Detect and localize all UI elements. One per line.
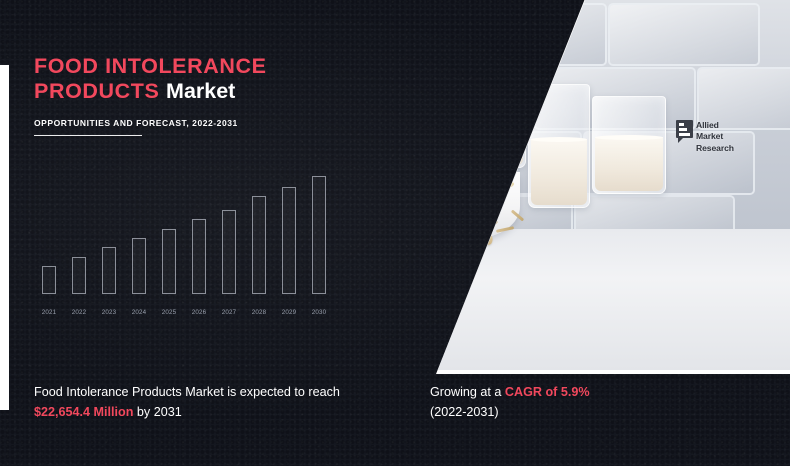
marble-counter: [300, 229, 790, 370]
market-value-amount: $22,654.4 Million: [34, 405, 133, 419]
chart-bar-column: [214, 168, 244, 294]
chart-bar-column: [154, 168, 184, 294]
milk-glass-far-right: [592, 96, 666, 194]
milk-glass-tall-center: [476, 46, 526, 168]
title-line-1: FOOD INTOLERANCE: [34, 54, 304, 79]
chart-bar: [192, 219, 206, 294]
report-headline: FOOD INTOLERANCE PRODUCTS Market OPPORTU…: [34, 54, 304, 136]
chart-x-label: 2029: [274, 309, 304, 316]
market-growth-bar-chart: 2021202220232024202520262027202820292030: [34, 168, 334, 316]
chart-x-label: 2024: [124, 309, 154, 316]
report-subtitle: OPPORTUNITIES AND FORECAST, 2022-2031: [34, 118, 304, 128]
logo-line-2: Market: [696, 131, 734, 142]
almond: [357, 244, 385, 262]
milk-glass-back-left: [366, 74, 432, 178]
chart-bar: [282, 187, 296, 294]
chart-x-label: 2026: [184, 309, 214, 316]
title-line-2: PRODUCTS Market: [34, 79, 304, 104]
chart-bar: [102, 247, 116, 294]
bubble-bar-1: [679, 123, 684, 126]
hero-photo-panel: [296, 0, 790, 374]
statement-suffix: by 2031: [133, 405, 181, 419]
green-straw: [505, 23, 538, 117]
logo-wordmark: Allied Market Research: [696, 120, 734, 154]
title-line-2-products: PRODUCTS: [34, 79, 159, 103]
cagr-statement: Growing at a CAGR of 5.9% (2022-2031): [430, 382, 730, 423]
chart-x-axis-labels: 2021202220232024202520262027202820292030: [34, 309, 334, 316]
chart-bar-column: [34, 168, 64, 294]
milk-glass-right-tall: [528, 84, 590, 208]
logo-line-1: Allied: [696, 120, 734, 131]
speech-bubble-icon: [676, 120, 693, 143]
chart-x-label: 2022: [64, 309, 94, 316]
chart-bar-column: [304, 168, 334, 294]
chart-x-label: 2025: [154, 309, 184, 316]
hero-photo: [300, 0, 790, 370]
allied-market-research-logo: Allied Market Research: [676, 120, 734, 154]
cereal-contents: [434, 176, 513, 192]
chart-bar-column: [64, 168, 94, 294]
chart-x-label: 2028: [244, 309, 274, 316]
chart-x-label: 2023: [94, 309, 124, 316]
chart-bar: [132, 238, 146, 294]
market-value-statement: Food Intolerance Products Market is expe…: [34, 382, 374, 423]
oat-grain: [482, 215, 498, 224]
photo-scene: [300, 0, 790, 370]
chart-bar-column: [124, 168, 154, 294]
chart-bar: [222, 210, 236, 294]
chart-bar-column: [184, 168, 214, 294]
cagr-period: (2022-2031): [430, 405, 499, 419]
chart-x-label: 2027: [214, 309, 244, 316]
chart-bar-column: [94, 168, 124, 294]
chart-bar: [312, 176, 326, 294]
chart-bar: [72, 257, 86, 294]
oat-grain: [420, 201, 429, 215]
chart-bars: [34, 168, 334, 294]
subtitle-underline: [34, 135, 142, 137]
logo-line-3: Research: [696, 143, 734, 154]
chart-bar: [162, 229, 176, 294]
statement-prefix: Food Intolerance Products Market is expe…: [34, 385, 340, 399]
bubble-bar-2: [679, 128, 687, 131]
bubble-bar-3: [679, 133, 690, 136]
chart-bar: [42, 266, 56, 294]
title-line-2-market: Market: [166, 79, 235, 103]
cagr-prefix: Growing at a: [430, 385, 505, 399]
almond: [419, 225, 442, 241]
chart-bar-column: [274, 168, 304, 294]
bubble-tail: [678, 137, 684, 143]
infographic-canvas: Allied Market Research FOOD INTOLERANCE …: [0, 0, 790, 466]
almond: [334, 235, 361, 256]
chart-bar-column: [244, 168, 274, 294]
left-accent-strip: [0, 65, 9, 410]
chart-x-label: 2030: [304, 309, 334, 316]
chart-bar: [252, 196, 266, 294]
chart-x-label: 2021: [34, 309, 64, 316]
cagr-value: CAGR of 5.9%: [505, 385, 590, 399]
almond: [384, 240, 412, 262]
title-line-1-text: FOOD INTOLERANCE: [34, 54, 267, 78]
